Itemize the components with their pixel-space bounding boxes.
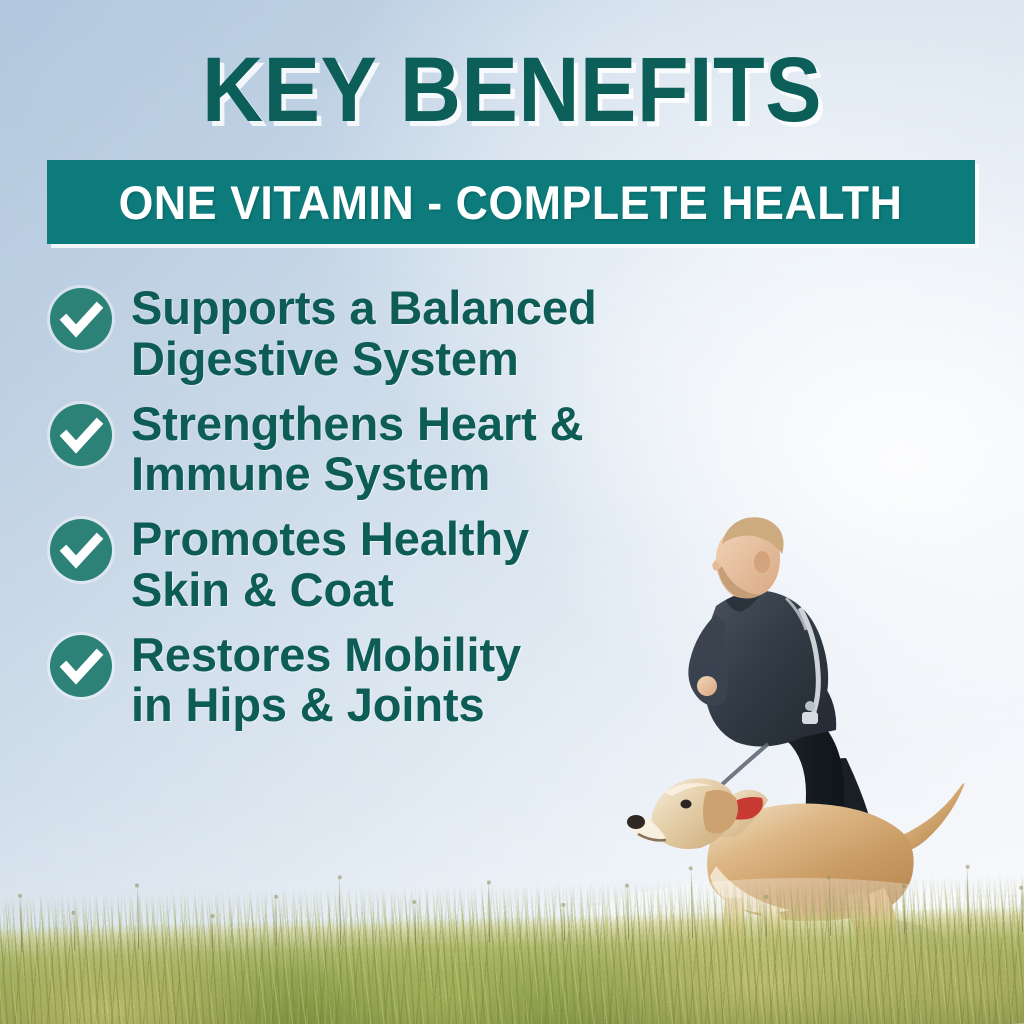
check-circle-icon xyxy=(50,519,112,581)
check-circle-icon xyxy=(50,288,112,350)
key-benefits-product-graphic: KEY BENEFITS ONE VITAMIN - COMPLETE HEAL… xyxy=(0,0,1024,1024)
benefit-line-2: Digestive System xyxy=(131,334,597,385)
benefit-text: Strengthens Heart & Immune System xyxy=(131,399,584,501)
list-item: Promotes Healthy Skin & Coat xyxy=(50,514,750,616)
benefit-line-1: Promotes Healthy xyxy=(131,514,529,565)
benefit-text: Promotes Healthy Skin & Coat xyxy=(131,514,529,616)
benefit-line-2: in Hips & Joints xyxy=(131,680,521,731)
benefit-line-1: Supports a Balanced xyxy=(131,283,597,334)
list-item: Supports a Balanced Digestive System xyxy=(50,283,750,385)
list-item: Strengthens Heart & Immune System xyxy=(50,399,750,501)
page-title: KEY BENEFITS xyxy=(41,44,983,136)
benefit-text: Supports a Balanced Digestive System xyxy=(131,283,597,385)
subtitle-banner-text: ONE VITAMIN - COMPLETE HEALTH xyxy=(119,175,903,230)
subtitle-banner: ONE VITAMIN - COMPLETE HEALTH xyxy=(47,160,975,244)
check-circle-icon xyxy=(50,404,112,466)
list-item: Restores Mobility in Hips & Joints xyxy=(50,630,750,732)
benefits-list: Supports a Balanced Digestive System Str… xyxy=(50,283,750,745)
benefit-line-2: Immune System xyxy=(131,449,584,500)
grass-foreground xyxy=(0,858,1024,1024)
benefit-line-1: Restores Mobility xyxy=(131,630,521,681)
benefit-text: Restores Mobility in Hips & Joints xyxy=(131,630,521,732)
check-circle-icon xyxy=(50,635,112,697)
benefit-line-2: Skin & Coat xyxy=(131,565,529,616)
benefit-line-1: Strengthens Heart & xyxy=(131,399,584,450)
